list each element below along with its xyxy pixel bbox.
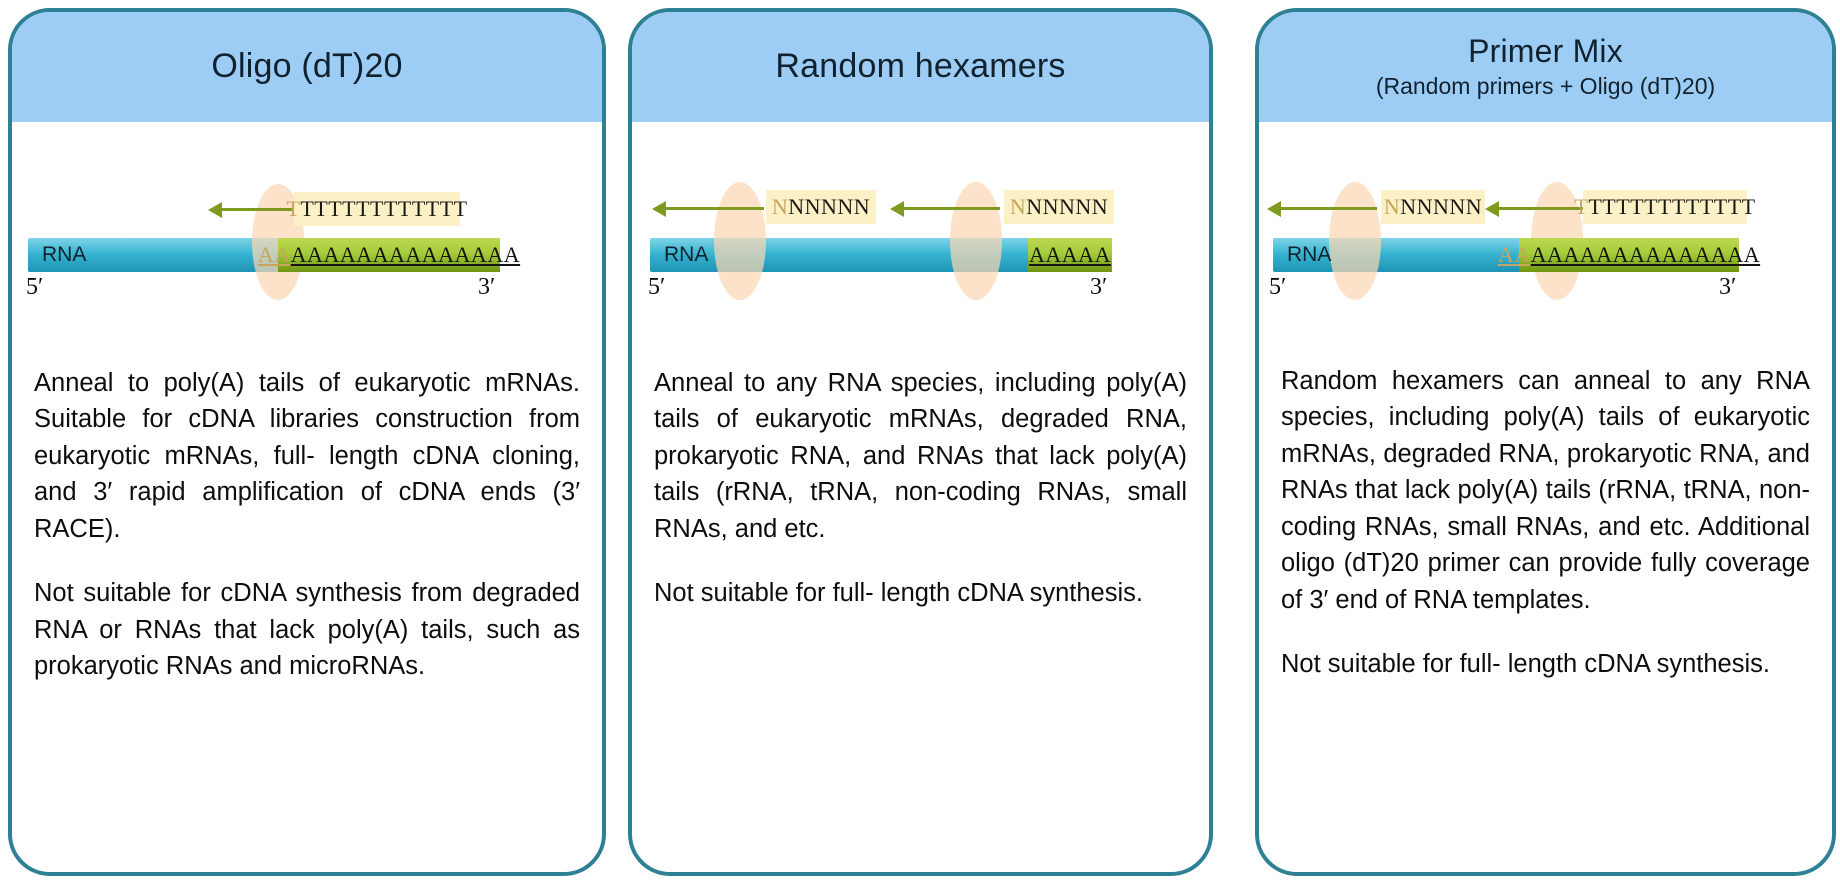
panel-description: Anneal to poly(A) tails of eukaryotic mR… <box>12 365 602 685</box>
panel-card-primer-mix: Primer Mix (Random primers + Oligo (dT)2… <box>1255 8 1836 876</box>
five-prime-label: 5′ <box>648 274 665 301</box>
description-paragraph: Not suitable for full- length cDNA synth… <box>654 575 1187 611</box>
three-prime-label: 3′ <box>1090 274 1107 301</box>
primer-random-hexamer: NNNNNN <box>766 190 876 224</box>
primer-oligo-dt: TTTTTTTTTTTTT <box>294 192 460 226</box>
panel-subtitle: (Random primers + Oligo (dT)20) <box>1376 73 1715 99</box>
description-paragraph: Anneal to any RNA species, including pol… <box>654 365 1187 547</box>
synthesis-arrow-icon <box>208 199 294 219</box>
poly-a-tail-region: AAAAA <box>1028 238 1112 272</box>
rna-primer-diagram: NNNNNN NNNNNN RNA AAAAA 5′ 3′ <box>632 126 1209 341</box>
poly-a-sequence: AAAAAAAAAAAAAA <box>291 242 520 268</box>
poly-a-faded-bases: AA <box>258 242 291 268</box>
primer-sequence: NNNNN <box>1026 194 1108 220</box>
primer-lead-base: N <box>1010 194 1026 220</box>
five-prime-label: 5′ <box>26 274 43 301</box>
description-paragraph: Anneal to poly(A) tails of eukaryotic mR… <box>34 365 580 547</box>
poly-a-tail-region: AAAAAAAAAAAAAAAA <box>278 238 500 272</box>
primer-lead-base: N <box>1384 194 1400 220</box>
primer-random-hexamer: NNNNNN <box>1004 190 1114 224</box>
three-prime-label: 3′ <box>1719 274 1736 301</box>
primer-lead-base: N <box>772 194 788 220</box>
panel-title: Primer Mix <box>1468 34 1623 69</box>
five-prime-label: 5′ <box>1269 274 1286 301</box>
primer-oligo-dt: TTTTTTTTTTTTT <box>1583 190 1747 224</box>
panel-header: Oligo (dT)20 <box>12 12 602 122</box>
poly-a-sequence: AAAAA <box>1029 242 1111 268</box>
primer-sequence: TTTTTTTTTTTT <box>1588 194 1755 220</box>
three-prime-label: 3′ <box>478 274 495 301</box>
primer-comparison-board: Oligo (dT)20 TTTTTTTTTTTTT RNA AAAAAAAAA… <box>0 0 1840 895</box>
rna-label: RNA <box>650 243 708 267</box>
poly-a-tail-region: AAAAAAAAAAAAAAAA <box>1519 238 1739 272</box>
panel-title: Oligo (dT)20 <box>211 48 402 85</box>
panel-title: Random hexamers <box>775 48 1065 85</box>
synthesis-arrow-icon <box>1267 198 1377 218</box>
panel-card-random-hexamers: Random hexamers NNNNNN NNNNNN RNA AAAAA … <box>628 8 1213 876</box>
panel-description: Random hexamers can anneal to any RNA sp… <box>1259 363 1832 683</box>
synthesis-arrow-icon <box>890 198 1000 218</box>
description-paragraph: Not suitable for cDNA synthesis from deg… <box>34 575 580 684</box>
primer-sequence: NNNNN <box>788 194 870 220</box>
description-paragraph: Not suitable for full- length cDNA synth… <box>1281 646 1810 682</box>
primer-lead-base: T <box>1574 194 1588 220</box>
poly-a-faded-bases: AA <box>1498 242 1531 268</box>
rna-label: RNA <box>1273 243 1331 267</box>
synthesis-arrow-icon <box>652 198 764 218</box>
synthesis-arrow-icon <box>1485 198 1583 218</box>
primer-random-hexamer: NNNNNN <box>1381 190 1485 224</box>
primer-sequence: TTTTTTTTTTTT <box>300 196 467 222</box>
panel-card-oligo-dt20: Oligo (dT)20 TTTTTTTTTTTTT RNA AAAAAAAAA… <box>8 8 606 876</box>
panel-header: Primer Mix (Random primers + Oligo (dT)2… <box>1259 12 1832 122</box>
panel-description: Anneal to any RNA species, including pol… <box>632 365 1209 612</box>
primer-sequence: NNNNN <box>1400 194 1482 220</box>
description-paragraph: Random hexamers can anneal to any RNA sp… <box>1281 363 1810 618</box>
rna-label: RNA <box>28 243 86 267</box>
poly-a-sequence: AAAAAAAAAAAAAA <box>1531 242 1760 268</box>
rna-primer-diagram: TTTTTTTTTTTTT RNA AAAAAAAAAAAAAAAA 5′ 3′ <box>12 126 602 341</box>
panel-header: Random hexamers <box>632 12 1209 122</box>
primer-lead-base: T <box>286 196 300 222</box>
rna-primer-diagram: NNNNNN TTTTTTTTTTTTT RNA AAAAAAAAAAAAAAA… <box>1259 126 1832 341</box>
